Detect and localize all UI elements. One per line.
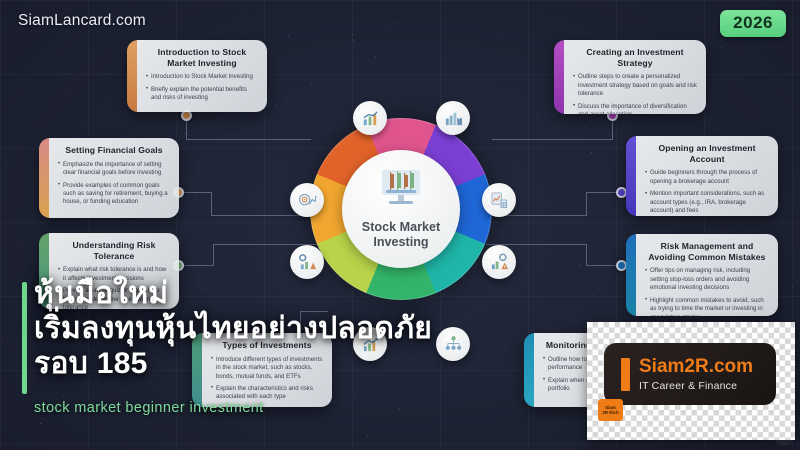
wheel-hub: Stock Market Investing (342, 150, 460, 268)
card-bullet: Introduction to Stock Market Investing (146, 73, 258, 81)
star-dot (591, 152, 592, 153)
logo-overlay-frame: Siam2R.com IT Career & Finance Siam 2R R… (587, 322, 795, 440)
star-dot (365, 393, 366, 394)
card-introduction-to-stock-market-investing[interactable]: Introduction to Stock Market Investing I… (127, 40, 267, 112)
star-dot (399, 408, 400, 409)
card-bullet: Guide beginners through the process of o… (645, 169, 769, 186)
star-dot (499, 39, 500, 40)
card-body: Introduction to Stock Market Investing I… (137, 40, 267, 112)
star-dot (792, 286, 793, 287)
star-dot (68, 73, 69, 74)
card-title: Opening an Investment Account (645, 143, 769, 164)
infographic-canvas: SiamLancard.com 2026 (0, 0, 800, 450)
brand-watermark: SiamLancard.com (18, 12, 146, 30)
card-title: Setting Financial Goals (58, 145, 170, 156)
star-dot (19, 146, 20, 147)
star-dot (618, 158, 619, 159)
overlay-line-1: หุ้นมือใหม่ (34, 276, 554, 311)
overlay-subtitle: stock market beginner investment (34, 400, 264, 416)
overlay-accent-bar (22, 282, 27, 394)
wheel-bubble-calculator[interactable] (482, 183, 516, 217)
star-dot (334, 402, 335, 403)
wheel-hub-title: Stock Market Investing (362, 220, 440, 251)
card-bullet: Mention important considerations, such a… (645, 190, 769, 215)
star-dot (367, 435, 368, 436)
card-stripe (554, 40, 564, 114)
star-dot (184, 133, 185, 134)
star-dot (375, 56, 376, 57)
star-dot (65, 9, 66, 10)
card-body: Risk Management and Avoiding Common Mist… (636, 234, 778, 316)
card-title: Creating an Investment Strategy (573, 47, 697, 68)
card-opening-an-investment-account[interactable]: Opening an Investment Account Guide begi… (626, 136, 778, 216)
star-dot (598, 288, 599, 289)
star-dot (593, 205, 594, 206)
star-dot (7, 340, 8, 341)
bar-chart-factory-icon (444, 109, 463, 128)
star-dot (792, 296, 793, 297)
overlay-line-3: รอบ 185 (34, 346, 554, 381)
card-bullet: Discuss the importance of diversificatio… (573, 103, 697, 114)
candlestick-chart-monitor-icon (373, 168, 429, 215)
card-bullets: Introduction to Stock Market Investing B… (146, 73, 258, 102)
star-dot (276, 104, 277, 105)
card-bullet: Offer tips on managing risk, including s… (645, 267, 769, 292)
star-dot (788, 201, 789, 202)
logo-tagline: IT Career & Finance (639, 380, 753, 392)
star-dot (574, 288, 575, 289)
star-dot (542, 76, 543, 77)
card-bullets: Offer tips on managing risk, including s… (645, 267, 769, 316)
logo-chip: Siam 2R Rich (598, 399, 623, 421)
card-body: Opening an Investment Account Guide begi… (636, 136, 778, 216)
wheel-bubble-gear-chart[interactable] (290, 245, 324, 279)
target-analysis-icon (298, 191, 317, 210)
star-dot (394, 103, 395, 104)
card-bullet: Highlight common mistakes to avoid, such… (645, 297, 769, 316)
gear-bar-chart-icon (298, 253, 317, 272)
star-dot (720, 47, 721, 48)
bar-chart-growth-icon (361, 109, 380, 128)
connector-line (586, 192, 587, 216)
star-dot (522, 61, 523, 62)
wheel-bubble-growth[interactable] (353, 101, 387, 135)
card-bullets: Outline steps to create a personalized i… (573, 73, 697, 114)
document-calculator-icon (490, 191, 509, 210)
star-dot (537, 126, 538, 127)
star-dot (201, 181, 202, 182)
star-dot (23, 242, 24, 243)
corner-decoration (774, 426, 794, 446)
star-dot (6, 162, 7, 163)
card-stripe (39, 138, 49, 218)
card-bullet: Outline steps to create a personalized i… (573, 73, 697, 98)
wheel-bubble-risk[interactable] (482, 245, 516, 279)
logo-chip-line-2: 2R Rich (602, 410, 618, 416)
star-dot (590, 120, 591, 121)
star-dot (360, 41, 361, 42)
card-creating-an-investment-strategy[interactable]: Creating an Investment Strategy Outline … (554, 40, 706, 114)
connector-line (213, 244, 214, 266)
star-dot (391, 29, 392, 30)
star-dot (195, 199, 196, 200)
star-dot (311, 83, 312, 84)
card-setting-financial-goals[interactable]: Setting Financial Goals Emphasize the im… (39, 138, 179, 218)
overlay-headline: หุ้นมือใหม่ เริ่มลงทุนหุ้นไทยอย่างปลอดภั… (34, 276, 554, 381)
card-bullet: Emphasize the importance of setting clea… (58, 161, 170, 178)
card-stripe (626, 234, 636, 316)
star-dot (329, 128, 330, 129)
connector-line (586, 244, 587, 266)
star-dot (768, 231, 769, 232)
star-dot (66, 31, 67, 32)
card-stripe (127, 40, 137, 112)
star-dot (526, 34, 527, 35)
star-dot (355, 397, 356, 398)
wheel-bubble-factory[interactable] (436, 101, 470, 135)
star-dot (579, 265, 580, 266)
star-dot (221, 159, 222, 160)
connector-line (211, 192, 212, 216)
star-dot (352, 34, 353, 35)
star-dot (69, 95, 70, 96)
card-stripe (626, 136, 636, 216)
center-wheel: Stock Market Investing (310, 118, 492, 300)
gear-warning-chart-icon (490, 253, 509, 272)
star-dot (40, 423, 41, 424)
card-risk-management-and-avoiding-common-mistakes[interactable]: Risk Management and Avoiding Common Mist… (626, 234, 778, 316)
card-bullet: Briefly explain the potential benefits a… (146, 86, 258, 103)
card-title: Introduction to Stock Market Investing (146, 47, 258, 68)
star-dot (353, 40, 354, 41)
card-body: Setting Financial Goals Emphasize the im… (49, 138, 179, 218)
card-title: Risk Management and Avoiding Common Mist… (645, 241, 769, 262)
star-dot (109, 74, 110, 75)
logo-accent-bar (621, 358, 630, 391)
star-dot (63, 395, 64, 396)
card-body: Creating an Investment Strategy Outline … (564, 40, 706, 114)
star-dot (264, 12, 265, 13)
star-dot (64, 417, 65, 418)
connector-line (186, 139, 311, 140)
overlay-line-2: เริ่มลงทุนหุ้นไทยอย่างปลอดภัย (34, 311, 554, 346)
year-badge: 2026 (720, 10, 786, 37)
star-dot (288, 35, 289, 36)
card-bullets: Emphasize the importance of setting clea… (58, 161, 170, 207)
card-title: Understanding Risk Tolerance (58, 240, 170, 261)
star-dot (395, 23, 396, 24)
star-dot (243, 13, 244, 14)
wheel-bubble-target[interactable] (290, 183, 324, 217)
connector-line (492, 139, 613, 140)
logo-card[interactable]: Siam2R.com IT Career & Finance (604, 343, 776, 405)
card-bullets: Guide beginners through the process of o… (645, 169, 769, 215)
logo-name: Siam2R.com (639, 357, 753, 376)
star-dot (717, 119, 718, 120)
card-bullet: Provide examples of common goals such as… (58, 182, 170, 207)
